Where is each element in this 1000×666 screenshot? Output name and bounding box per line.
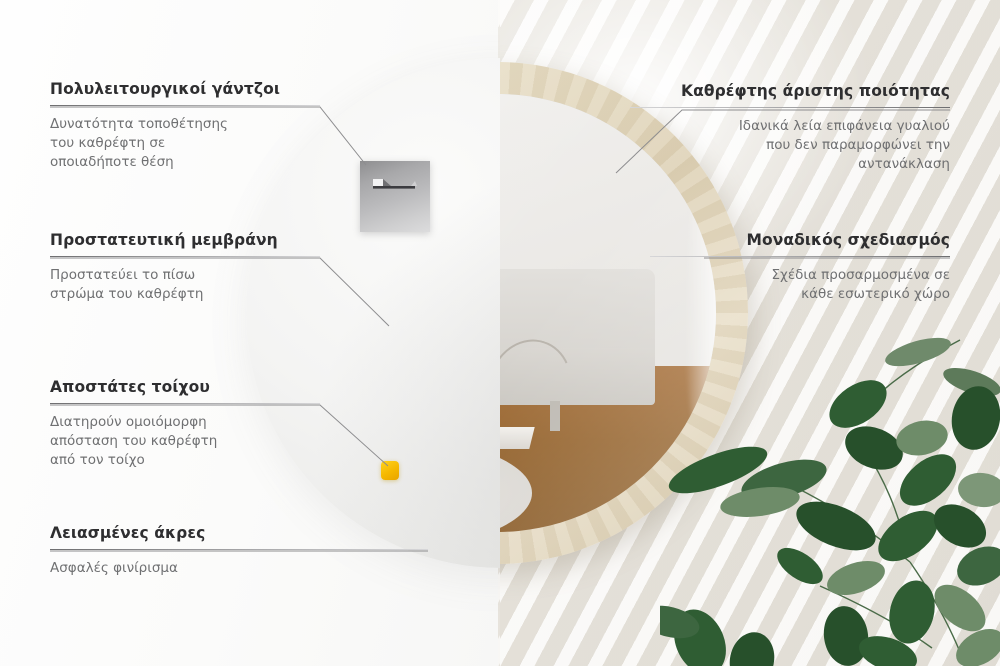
callout-hooks-title: Πολυλειτουργικοί γάντζοι	[50, 80, 320, 98]
hook-icon	[371, 177, 419, 195]
callout-design-title: Μοναδικός σχεδιασμός	[650, 231, 950, 249]
callout-hooks-rule	[50, 105, 320, 106]
callout-spacers-title: Αποστάτες τοίχου	[50, 378, 320, 396]
callout-spacers: Αποστάτες τοίχου Διατηρούν ομοιόμορφη απ…	[50, 378, 320, 470]
infographic-canvas: Πολυλειτουργικοί γάντζοι Δυνατότητα τοπο…	[0, 0, 1000, 666]
mounting-hook-plate	[360, 161, 430, 232]
callout-quality-title: Καθρέφτης άριστης ποιότητας	[630, 82, 950, 100]
callout-membrane-desc: Προστατεύει το πίσω στρώμα του καθρέφτη	[50, 266, 220, 304]
callout-edges: Λειασμένες άκρες Ασφαλές φινίρισμα	[50, 524, 428, 578]
wall-spacer-yellow	[381, 461, 399, 480]
callout-spacers-rule	[50, 403, 320, 404]
callout-quality: Καθρέφτης άριστης ποιότητας Ιδανικά λεία…	[630, 82, 950, 174]
callout-design-rule	[650, 256, 950, 257]
callout-membrane-title: Προστατευτική μεμβράνη	[50, 231, 320, 249]
reflected-floor-lamp-shade	[500, 427, 535, 449]
callout-edges-title: Λειασμένες άκρες	[50, 524, 428, 542]
callout-membrane: Προστατευτική μεμβράνη Προστατεύει το πί…	[50, 231, 320, 304]
callout-hooks-desc: Δυνατότητα τοποθέτησης του καθρέφτη σε ο…	[50, 115, 255, 172]
callout-spacers-desc: Διατηρούν ομοιόμορφη απόσταση του καθρέφ…	[50, 413, 225, 470]
green-leaves-branch-icon	[660, 330, 1000, 666]
callout-quality-desc: Ιδανικά λεία επιφάνεια γυαλιού που δεν π…	[720, 117, 950, 174]
callout-design: Μοναδικός σχεδιασμός Σχέδια προσαρμοσμέν…	[650, 231, 950, 304]
callout-edges-desc: Ασφαλές φινίρισμα	[50, 559, 428, 578]
callout-hooks: Πολυλειτουργικοί γάντζοι Δυνατότητα τοπο…	[50, 80, 320, 172]
callout-membrane-rule	[50, 256, 320, 257]
callout-edges-rule	[50, 549, 428, 550]
callout-quality-rule	[630, 107, 950, 108]
callout-design-desc: Σχέδια προσαρμοσμένα σε κάθε εσωτερικό χ…	[750, 266, 950, 304]
